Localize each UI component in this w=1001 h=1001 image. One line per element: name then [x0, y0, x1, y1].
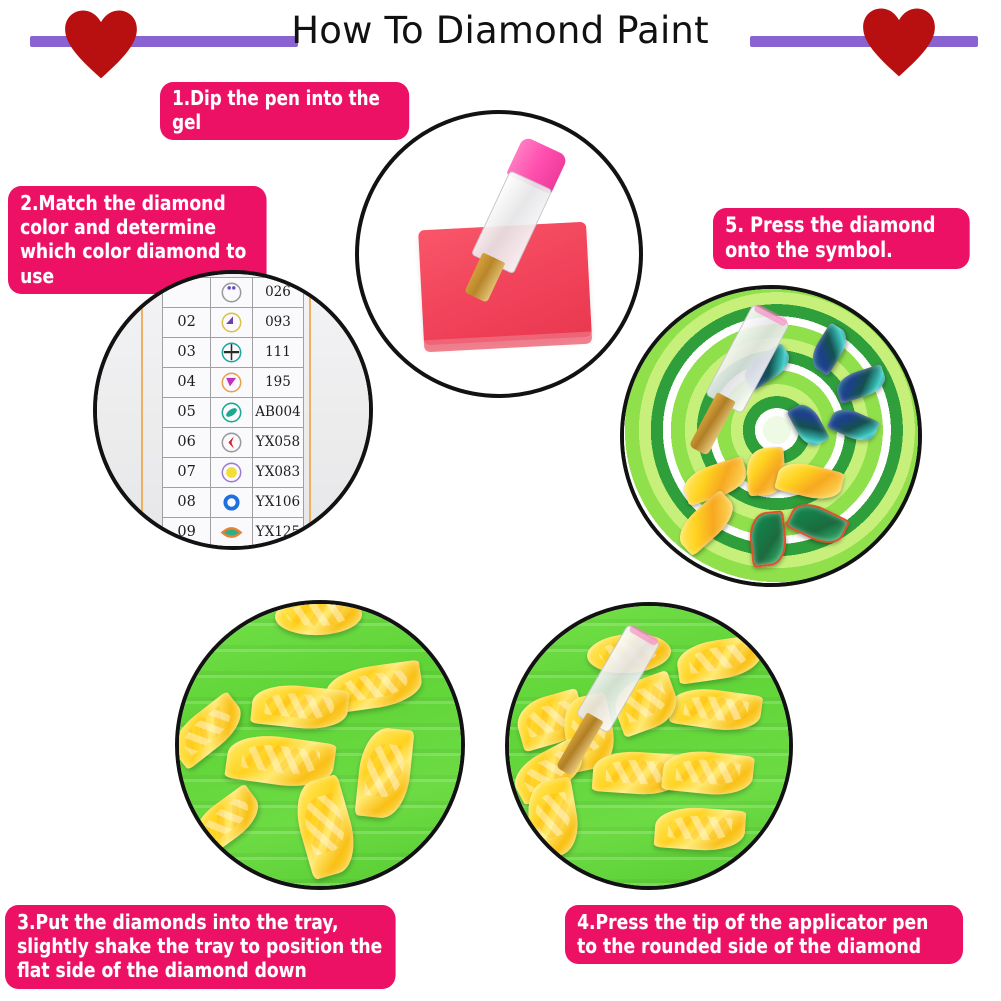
color-chart-row: 05AB004 [163, 397, 303, 427]
heart-right-icon [860, 6, 938, 78]
color-chart-row: 03111 [163, 337, 303, 367]
color-chart-index: 05 [163, 397, 211, 427]
color-chart-row: 09YX125 [163, 517, 303, 547]
color-chart-index: 09 [163, 517, 211, 547]
photo-color-chart: 02602093031110419505AB00406YX05807YX0830… [93, 270, 373, 550]
color-chart-index: 03 [163, 337, 211, 367]
chart-guide-line-left [141, 274, 143, 546]
color-chart-code: 093 [253, 307, 304, 337]
color-chart-symbol-teal-ellipse [210, 397, 252, 427]
color-chart-row: 04195 [163, 367, 303, 397]
color-chart-code: YX106 [253, 487, 304, 517]
chart-guide-line-right-b [309, 274, 311, 546]
color-chart-symbol-teal-leaf-orange-outline [210, 517, 252, 547]
color-chart-index: 04 [163, 367, 211, 397]
color-chart-row: 06YX058 [163, 427, 303, 457]
color-chart-symbol-plus-cross [210, 337, 252, 367]
color-chart-index: 08 [163, 487, 211, 517]
step-5-label: 5. Press the diamond onto the symbol. [713, 208, 970, 269]
color-chart-symbol-purple-triangle [210, 307, 252, 337]
color-chart-code: YX058 [253, 427, 304, 457]
color-chart-code: YX125 [253, 517, 304, 547]
step-3-label: 3.Put the diamonds into the tray, slight… [5, 905, 396, 989]
diamond-gem [653, 805, 745, 853]
color-symbol-table: 02602093031110419505AB00406YX05807YX0830… [162, 277, 303, 548]
pen-tip [465, 253, 506, 303]
color-chart-symbol-blue-ring [210, 487, 252, 517]
color-chart-code: YX083 [253, 457, 304, 487]
color-chart-code: AB004 [253, 397, 304, 427]
color-chart-index [163, 277, 211, 307]
color-chart-code: 026 [253, 277, 304, 307]
color-chart-symbol-purple-circle-dots [210, 277, 252, 307]
photo-pressing-diamond [505, 602, 793, 890]
color-chart-code: 195 [253, 367, 304, 397]
step-4-label: 4.Press the tip of the applicator pen to… [565, 905, 963, 964]
color-chart-row: 07YX083 [163, 457, 303, 487]
color-chart-row: 02093 [163, 307, 303, 337]
color-chart-index: 06 [163, 427, 211, 457]
color-chart-row: 026 [163, 277, 303, 307]
heart-left-icon [62, 8, 140, 80]
color-chart-symbol-red-chevron [210, 427, 252, 457]
color-chart-code: 111 [253, 337, 304, 367]
infographic-canvas: How To Diamond Paint 1.Dip the pen into … [0, 0, 1001, 1001]
photo-press-onto-symbol [620, 285, 922, 587]
color-chart-symbol-yellow-dot-in-purple-ring [210, 457, 252, 487]
page-title: How To Diamond Paint [280, 9, 720, 52]
color-chart-index: 02 [163, 307, 211, 337]
photo-diamonds-in-tray [175, 600, 465, 890]
photo-pen-dipping-gel [355, 110, 643, 398]
color-chart-row: 08YX106 [163, 487, 303, 517]
color-chart-symbol-magenta-triangle [210, 367, 252, 397]
color-chart-index: 07 [163, 457, 211, 487]
